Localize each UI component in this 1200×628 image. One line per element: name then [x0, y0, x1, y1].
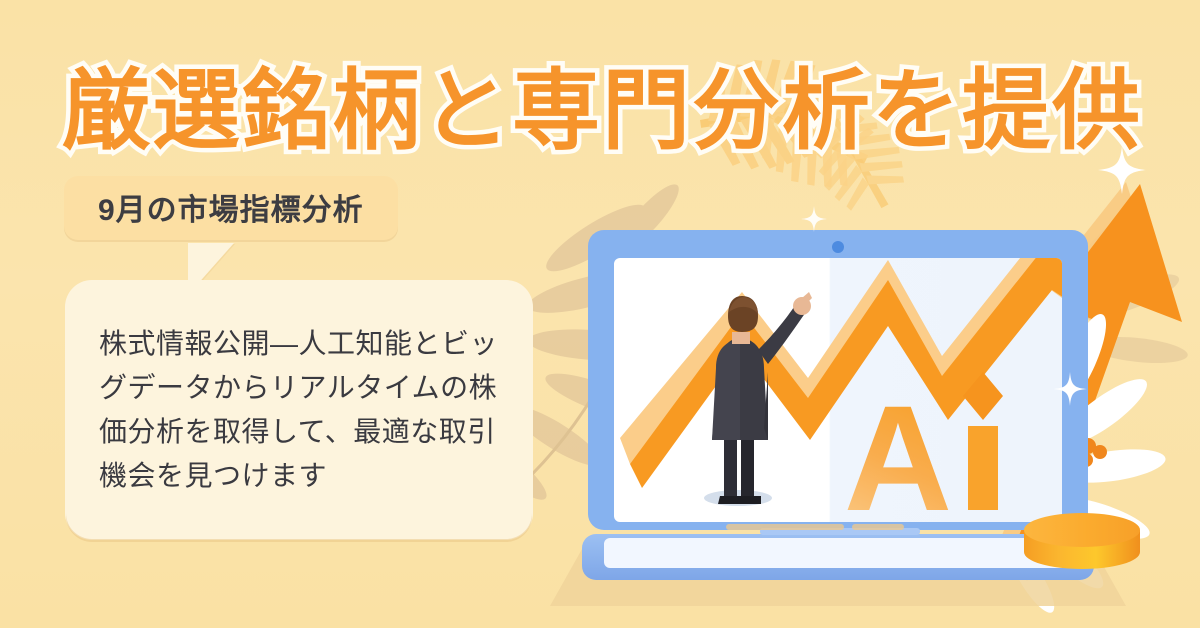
svg-text:A: A — [844, 374, 952, 542]
laptop-illustration: A — [530, 110, 1200, 628]
subtitle-badge: 9月の市場指標分析 — [64, 176, 398, 240]
gold-coin — [1024, 513, 1140, 569]
banner-canvas: A — [0, 0, 1200, 628]
keyboard-strokes — [726, 524, 904, 530]
description-text: 株式情報公開—人工知能とビッグデータからリアルタイムの株価分析を取得して、最適な… — [99, 322, 499, 499]
headline-text: 厳選銘柄と専門分析を提供 — [62, 67, 1142, 155]
description-bubble: 株式情報公開—人工知能とビッグデータからリアルタイムの株価分析を取得して、最適な… — [66, 281, 532, 539]
page-title: 厳選銘柄と専門分析を提供 — [62, 52, 1152, 170]
subtitle-badge-label: 9月の市場指標分析 — [98, 194, 364, 227]
